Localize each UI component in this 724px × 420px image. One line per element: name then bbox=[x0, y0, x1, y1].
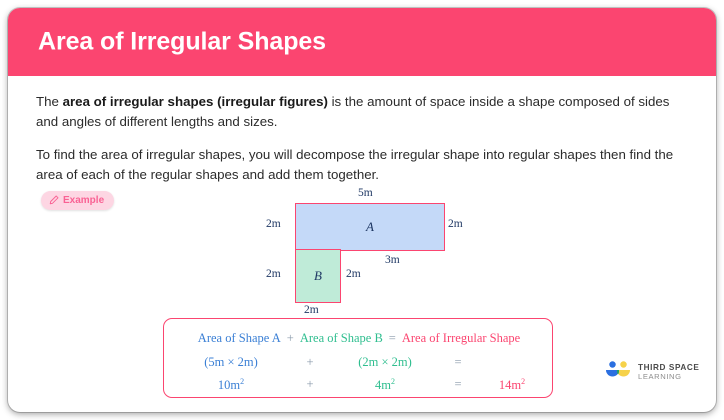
pencil-icon bbox=[49, 192, 59, 210]
logo-wordmark: THIRD SPACE LEARNING bbox=[638, 364, 700, 381]
lesson-card: Area of Irregular Shapes The area of irr… bbox=[8, 8, 716, 412]
third-space-learning-mark-icon bbox=[605, 360, 631, 385]
intro-paragraph-2: To find the area of irregular shapes, yo… bbox=[36, 145, 691, 185]
logo-line-2: LEARNING bbox=[638, 373, 700, 381]
formula-shape-b-value-exponent: 2 bbox=[391, 377, 395, 386]
rectangle-a-label: A bbox=[295, 203, 445, 251]
formula-shape-a-words: Area of Shape A bbox=[198, 331, 281, 346]
formula-shape-b-words: Area of Shape B bbox=[300, 331, 383, 346]
formula-result-words: Area of Irregular Shape bbox=[402, 331, 520, 346]
dim-b-bottom: 2m bbox=[304, 304, 319, 316]
formula-result-value-exponent: 2 bbox=[521, 377, 525, 386]
intro-p1-bold: area of irregular shapes (irregular figu… bbox=[63, 94, 328, 109]
intro-paragraph-1: The area of irregular shapes (irregular … bbox=[36, 92, 691, 132]
dim-b-left: 2m bbox=[266, 268, 281, 280]
example-badge-label: Example bbox=[63, 195, 104, 206]
formula-equals-3: = bbox=[440, 377, 476, 392]
formula-shape-a-expression: (5m × 2m) bbox=[172, 355, 290, 370]
formula-shape-a-value-exponent: 2 bbox=[240, 377, 244, 386]
page-header: Area of Irregular Shapes bbox=[8, 8, 716, 76]
intro-text: The area of irregular shapes (irregular … bbox=[36, 92, 691, 198]
formula-equals-1: = bbox=[389, 331, 396, 346]
dim-a-right: 2m bbox=[448, 218, 463, 230]
formula-shape-b-expression: (2m × 2m) bbox=[330, 355, 440, 370]
dim-a-left: 2m bbox=[266, 218, 281, 230]
formula-plus-2: + bbox=[290, 355, 330, 370]
third-space-learning-logo: THIRD SPACE LEARNING bbox=[605, 360, 700, 385]
irregular-shape-diagram: A B 5m 2m 2m 3m 2m 2m 2m bbox=[258, 186, 483, 314]
dim-a-top: 5m bbox=[358, 187, 373, 199]
page-title: Area of Irregular Shapes bbox=[38, 28, 326, 57]
formula-plus-1: + bbox=[287, 331, 294, 346]
formula-shape-b-value: 4m2 bbox=[330, 377, 440, 393]
rectangle-b-label: B bbox=[295, 249, 341, 303]
area-formula-box: Area of Shape A + Area of Shape B = Area… bbox=[163, 318, 553, 398]
formula-row-words: Area of Shape A + Area of Shape B = Area… bbox=[164, 331, 554, 346]
example-badge[interactable]: Example bbox=[41, 191, 114, 210]
dim-b-right: 2m bbox=[346, 268, 361, 280]
intro-p1-pre: The bbox=[36, 94, 63, 109]
formula-equals-2: = bbox=[440, 355, 476, 370]
formula-shape-a-value: 10m2 bbox=[172, 377, 290, 393]
dim-middle: 3m bbox=[385, 254, 400, 266]
formula-result-value: 14m2 bbox=[476, 377, 548, 393]
formula-plus-3: + bbox=[290, 377, 330, 392]
